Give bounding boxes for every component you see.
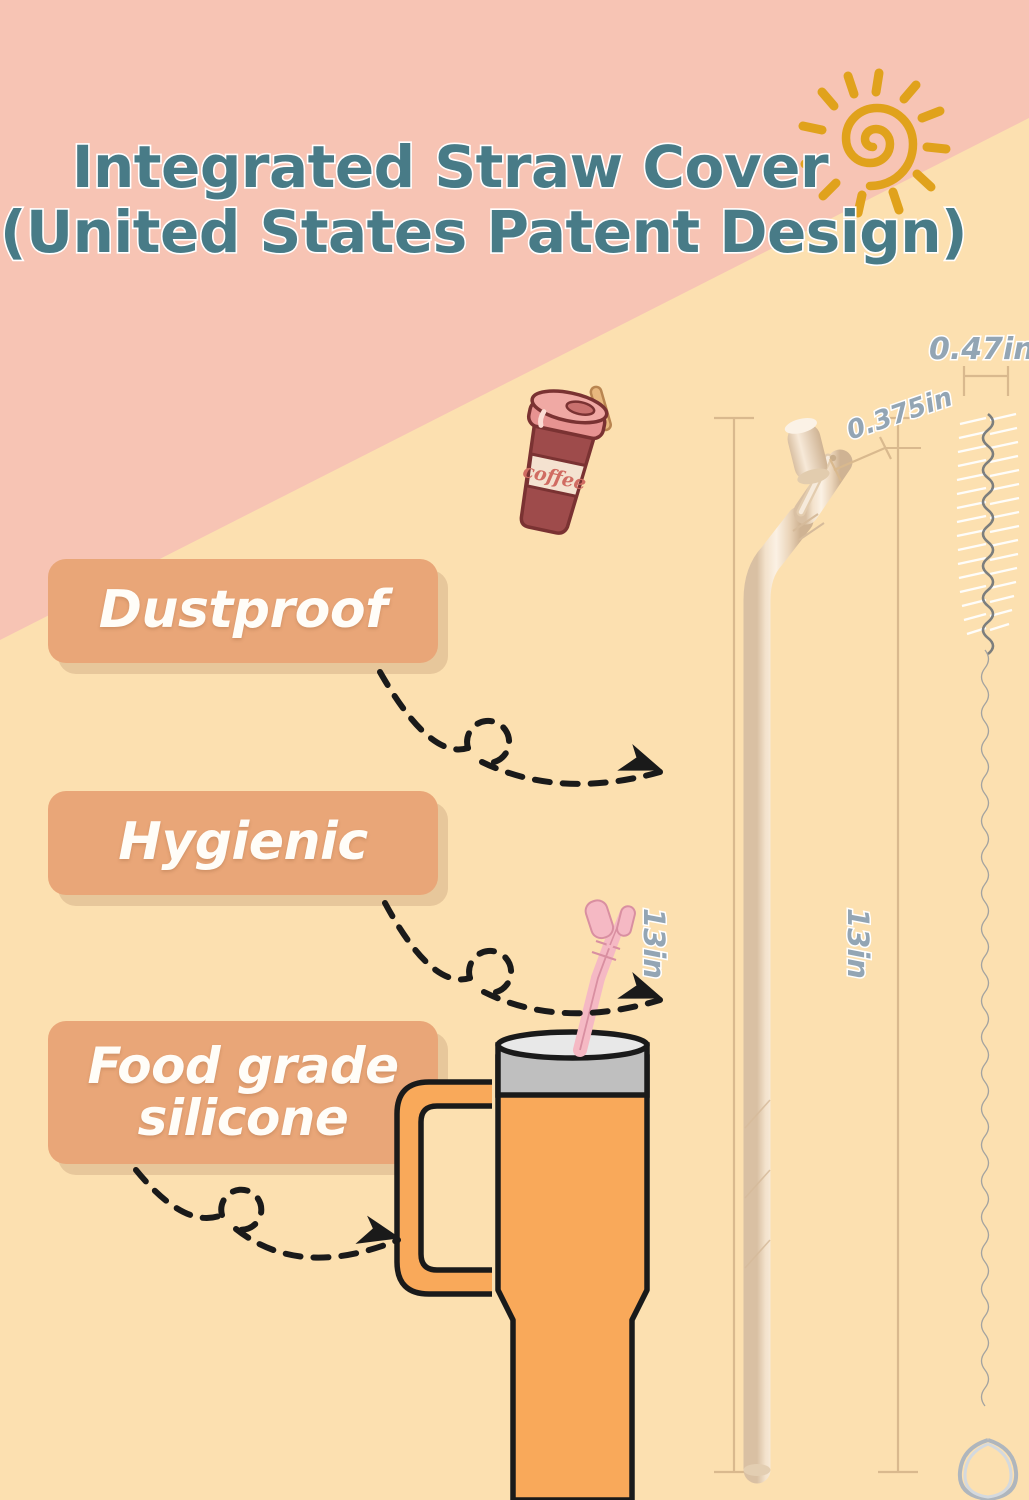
- tumbler-illustration: [397, 898, 647, 1500]
- dimension-line-brush-length: [878, 418, 918, 1472]
- silicone-straw-illustration: [744, 415, 841, 1476]
- dimension-label-brush-diameter: 0.47in: [929, 332, 1029, 367]
- brush-bristles: [957, 414, 1019, 654]
- dimension-line-brush-diameter: [964, 366, 1008, 396]
- cleaning-brush-illustration: [957, 366, 1019, 1499]
- product-illustrations: [0, 0, 1029, 1500]
- dimension-label-straw-length: 13in: [637, 908, 671, 979]
- dimension-label-brush-length: 13in: [841, 908, 875, 979]
- infographic-canvas: Integrated Straw Cover (United States Pa…: [0, 0, 1029, 1500]
